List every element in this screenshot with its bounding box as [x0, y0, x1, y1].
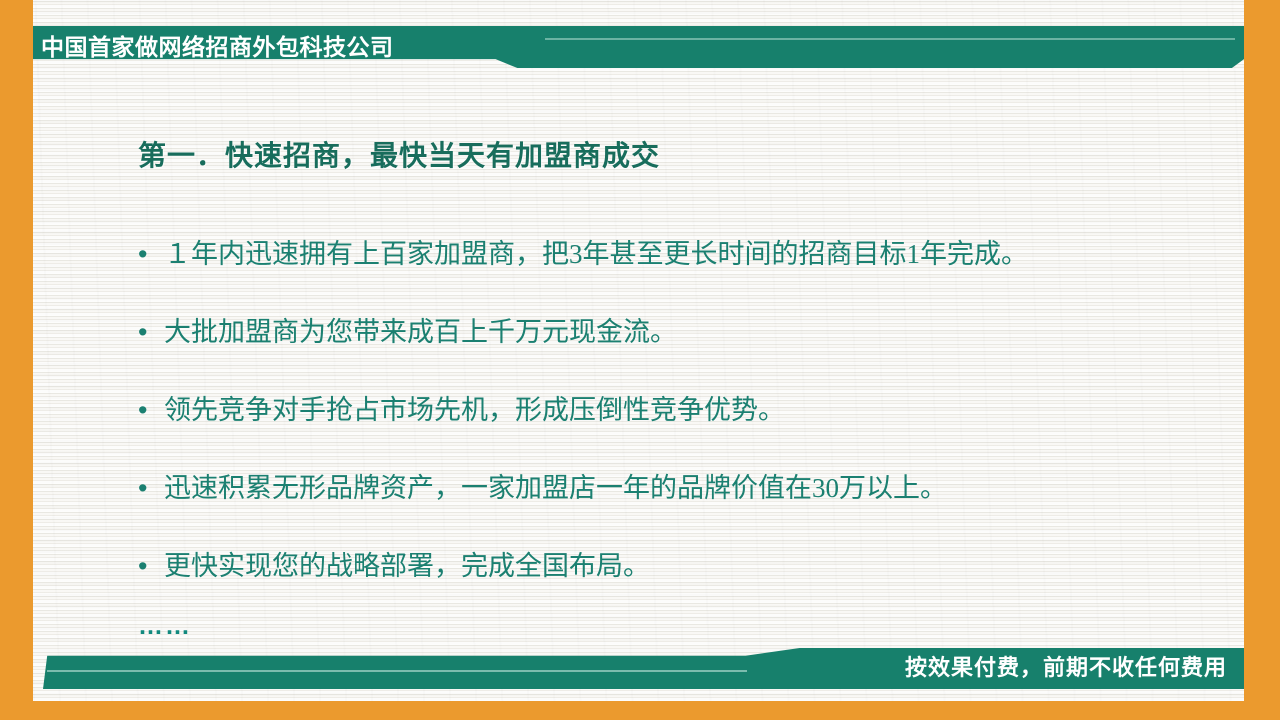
- bullet-text: １年内迅速拥有上百家加盟商，把3年甚至更长时间的招商目标1年完成。: [164, 234, 1208, 274]
- bullet-item: •更快实现您的战略部署，完成全国布局。: [138, 546, 1208, 624]
- bullet-marker-icon: •: [138, 312, 164, 352]
- slide-heading: 第一．快速招商，最快当天有加盟商成交: [138, 134, 660, 174]
- bullet-text: 更快实现您的战略部署，完成全国布局。: [164, 546, 1208, 586]
- bullet-text: 迅速积累无形品牌资产，一家加盟店一年的品牌价值在30万以上。: [164, 468, 1208, 508]
- header-company-tagline: 中国首家做网络招商外包科技公司: [41, 32, 641, 64]
- continuation-ellipsis: ……: [138, 611, 192, 641]
- bullet-marker-icon: •: [138, 390, 164, 430]
- bullet-list: •１年内迅速拥有上百家加盟商，把3年甚至更长时间的招商目标1年完成。•大批加盟商…: [138, 234, 1208, 624]
- footer-slogan: 按效果付费，前期不收任何费用: [905, 650, 1227, 686]
- header-divider-line: [545, 38, 1235, 40]
- bullet-text: 领先竞争对手抢占市场先机，形成压倒性竞争优势。: [164, 390, 1208, 430]
- slide-canvas: 中国首家做网络招商外包科技公司 第一．快速招商，最快当天有加盟商成交 •１年内迅…: [0, 0, 1280, 720]
- bullet-marker-icon: •: [138, 546, 164, 586]
- bullet-item: •１年内迅速拥有上百家加盟商，把3年甚至更长时间的招商目标1年完成。: [138, 234, 1208, 312]
- bullet-item: •迅速积累无形品牌资产，一家加盟店一年的品牌价值在30万以上。: [138, 468, 1208, 546]
- bullet-item: •大批加盟商为您带来成百上千万元现金流。: [138, 312, 1208, 390]
- bullet-item: •领先竞争对手抢占市场先机，形成压倒性竞争优势。: [138, 390, 1208, 468]
- bullet-marker-icon: •: [138, 234, 164, 274]
- bullet-marker-icon: •: [138, 468, 164, 508]
- footer-divider-line: [47, 670, 747, 672]
- bullet-text: 大批加盟商为您带来成百上千万元现金流。: [164, 312, 1208, 352]
